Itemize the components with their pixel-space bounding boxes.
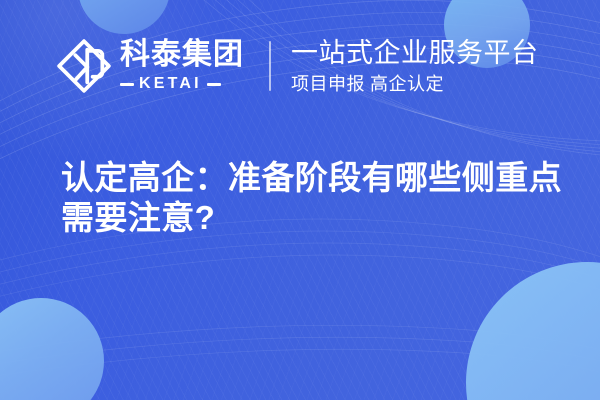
ketai-diamond-monogram-icon bbox=[57, 39, 111, 93]
header-divider bbox=[269, 41, 271, 91]
slogan-main: 一站式企业服务平台 bbox=[291, 38, 539, 68]
brand-name-en: KETAI bbox=[139, 76, 202, 92]
brand-name-en-row: KETAI bbox=[120, 76, 244, 92]
logo-dash-left-icon bbox=[120, 83, 134, 86]
brand-name-cn: 科泰集团 bbox=[120, 40, 244, 70]
brand-wordmark: 科泰集团 KETAI bbox=[120, 40, 244, 92]
logo-dash-right-icon bbox=[207, 83, 221, 86]
brand-logo: 科泰集团 KETAI bbox=[57, 39, 244, 93]
promo-banner: 科泰集团 KETAI 一站式企业服务平台 项目申报 高企认定 认定高企：准备阶段… bbox=[0, 0, 600, 400]
title-line-2: 需要注意? bbox=[61, 198, 566, 238]
title-line-1: 认定高企：准备阶段有哪些侧重点 bbox=[61, 158, 566, 198]
banner-header: 科泰集团 KETAI 一站式企业服务平台 项目申报 高企认定 bbox=[0, 0, 600, 132]
banner-title: 认定高企：准备阶段有哪些侧重点 需要注意? bbox=[61, 158, 566, 238]
slogan-block: 一站式企业服务平台 项目申报 高企认定 bbox=[291, 38, 539, 95]
slogan-sub: 项目申报 高企认定 bbox=[291, 74, 539, 95]
